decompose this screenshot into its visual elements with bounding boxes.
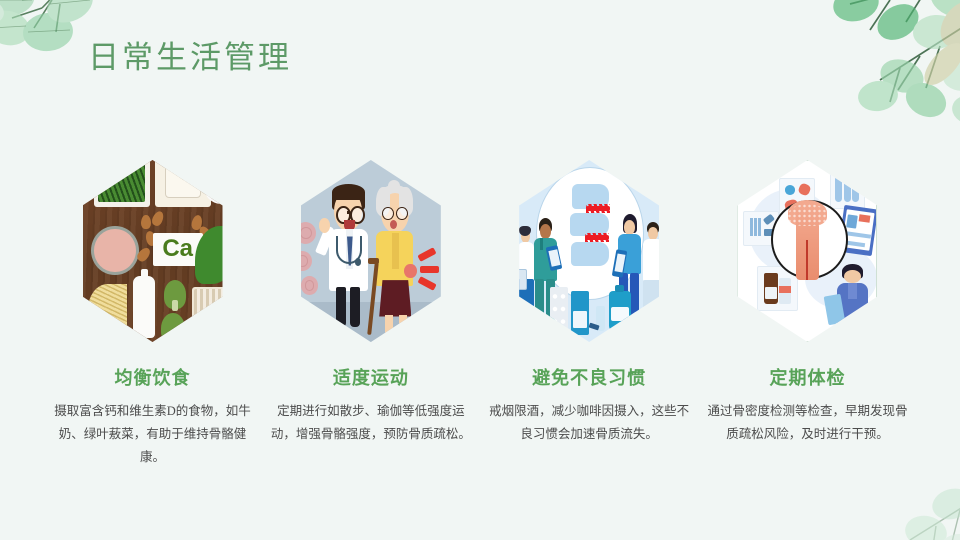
hex-image-moderate-exercise[interactable]	[301, 160, 441, 342]
card-title-avoid-bad-habits: 避免不良习惯	[532, 368, 646, 390]
hex-image-regular-checkup[interactable]	[737, 160, 877, 342]
card-desc-avoid-bad-habits: 戒烟限酒，减少咖啡因摄入，这些不良习惯会加速骨质流失。	[489, 400, 689, 446]
card-desc-moderate-exercise: 定期进行如散步、瑜伽等低强度运动，增强骨骼强度，预防骨质疏松。	[271, 400, 471, 446]
card-desc-regular-checkup: 通过骨密度检测等检查，早期发现骨质疏松风险，及时进行干预。	[707, 400, 907, 446]
spine-fracture-illustration	[519, 160, 659, 342]
slide-canvas: 日常生活管理	[0, 0, 960, 540]
card-title-balanced-diet: 均衡饮食	[115, 368, 191, 390]
card-avoid-bad-habits[interactable]: 避免不良习惯 戒烟限酒，减少咖啡因摄入，这些不良习惯会加速骨质流失。	[487, 160, 692, 469]
eucalyptus-branch-bottom-right-icon	[840, 470, 960, 540]
eucalyptus-branch-top-right-icon	[730, 0, 960, 150]
card-title-moderate-exercise: 适度运动	[333, 368, 409, 390]
cards-row: Ca 均衡饮食 摄取富含钙和维生素D的食物，如牛奶、绿叶蔜菜，有助于维持骨骼健康…	[50, 160, 910, 469]
page-title: 日常生活管理	[88, 32, 292, 77]
calcium-rich-foods-photo: Ca	[83, 160, 223, 342]
card-regular-checkup[interactable]: 定期体检 通过骨密度检测等检查，早期发现骨质疏松风险，及时进行干预。	[705, 160, 910, 469]
doctor-and-elderly-woman-illustration	[301, 160, 441, 342]
card-moderate-exercise[interactable]: 适度运动 定期进行如散步、瑜伽等低强度运动，增强骨骼强度，预防骨质疏松。	[268, 160, 473, 469]
card-desc-balanced-diet: 摄取富含钙和维生素D的食物，如牛奶、绿叶蔜菜，有助于维持骨骼健康。	[53, 400, 253, 469]
hex-image-avoid-bad-habits[interactable]	[519, 160, 659, 342]
bone-density-magnifier-illustration	[737, 160, 877, 342]
card-title-regular-checkup: 定期体检	[769, 368, 845, 390]
card-balanced-diet[interactable]: Ca 均衡饮食 摄取富含钙和维生素D的食物，如牛奶、绿叶蔜菜，有助于维持骨骼健康…	[50, 160, 255, 469]
hex-image-balanced-diet[interactable]: Ca	[83, 160, 223, 342]
